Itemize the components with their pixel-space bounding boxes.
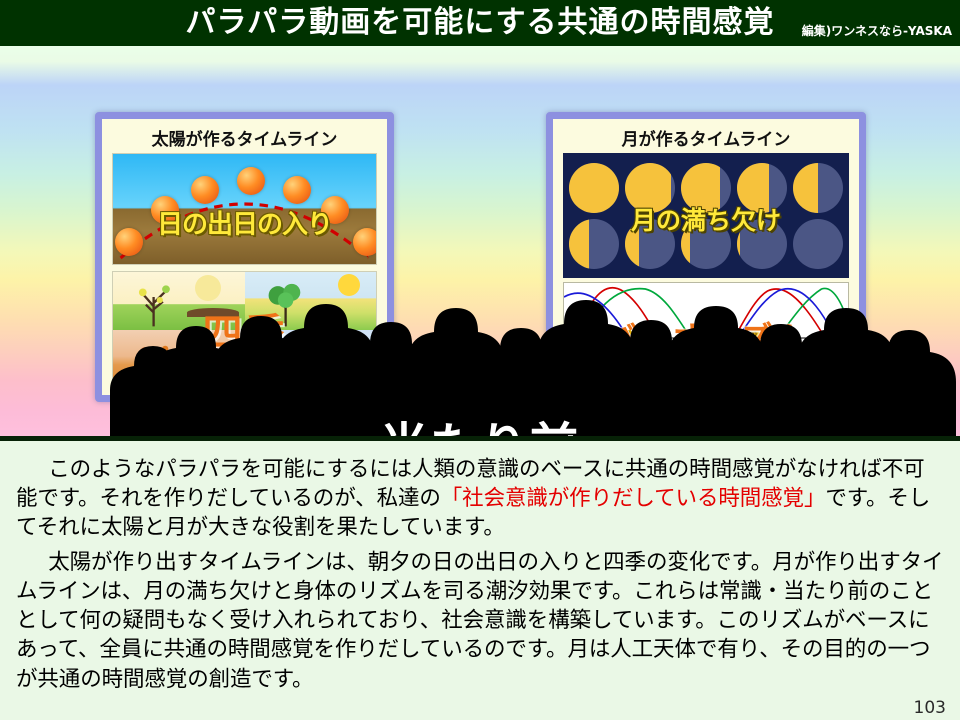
editor-credit: 編集)ワンネスなら-YASKA — [802, 22, 952, 39]
paragraph-1: このようなパラパラを可能にするには人類の意識のベースに共通の時間感覚がなければ不… — [16, 455, 944, 543]
sun-ball — [283, 176, 311, 204]
illustration-stage: 太陽が作るタイムライン 日の出日の入り — [0, 46, 960, 436]
moon-phases-image: 月の満ち欠け — [563, 153, 849, 278]
sun-ball — [191, 176, 219, 204]
paragraph-2: 太陽が作り出すタイムラインは、朝夕の日の出日の入りと四季の変化です。月が作り出す… — [16, 548, 944, 694]
sun-ball — [237, 167, 265, 195]
panel-moon-title: 月が作るタイムライン — [553, 125, 859, 150]
paragraph-1-highlight: 「社会意識が作りだしている時間感覚」 — [441, 486, 826, 511]
header-bar: パラパラ動画を可能にする共通の時間感覚 編集)ワンネスなら-YASKA — [0, 0, 960, 46]
page-number: 103 — [914, 698, 946, 718]
moon-phases-label: 月の満ち欠け — [563, 201, 849, 237]
body-text-box: このようなパラパラを可能にするには人類の意識のベースに共通の時間感覚がなければ不… — [0, 436, 960, 720]
slide: パラパラ動画を可能にする共通の時間感覚 編集)ワンネスなら-YASKA 太陽が作… — [0, 0, 960, 720]
sunrise-sunset-label: 日の出日の入り — [113, 204, 376, 241]
sunrise-sunset-image: 日の出日の入り — [112, 153, 377, 265]
panel-sun-title: 太陽が作るタイムライン — [102, 125, 387, 150]
